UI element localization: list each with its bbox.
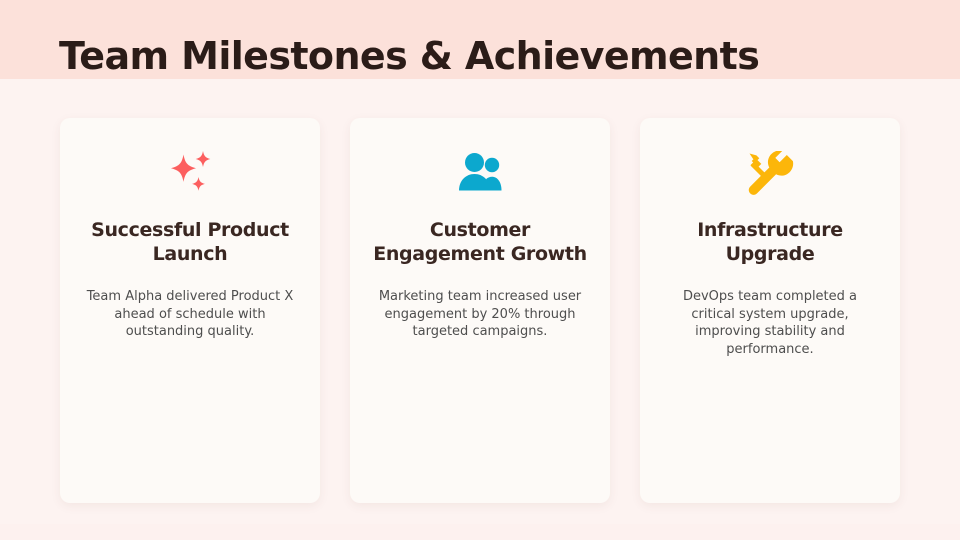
sparkles-icon — [162, 148, 218, 198]
milestone-card[interactable]: Successful Product Launch Team Alpha del… — [60, 118, 320, 503]
card-description: Marketing team increased user engagement… — [371, 288, 589, 341]
milestone-card[interactable]: Customer Engagement Growth Marketing tea… — [350, 118, 610, 503]
card-description: DevOps team completed a critical system … — [661, 288, 879, 358]
milestone-card-row: Successful Product Launch Team Alpha del… — [60, 118, 900, 503]
header-band: Team Milestones & Achievements — [0, 0, 960, 79]
slide-canvas: Team Milestones & Achievements Successfu… — [0, 0, 960, 540]
card-description: Team Alpha delivered Product X ahead of … — [81, 288, 299, 341]
users-icon — [452, 148, 508, 198]
page-title: Team Milestones & Achievements — [59, 34, 759, 78]
milestone-card[interactable]: Infrastructure Upgrade DevOps team compl… — [640, 118, 900, 503]
bottom-strip — [0, 524, 960, 540]
card-title: Infrastructure Upgrade — [658, 218, 882, 266]
tools-icon — [742, 148, 798, 198]
card-title: Successful Product Launch — [78, 218, 302, 266]
card-title: Customer Engagement Growth — [368, 218, 592, 266]
